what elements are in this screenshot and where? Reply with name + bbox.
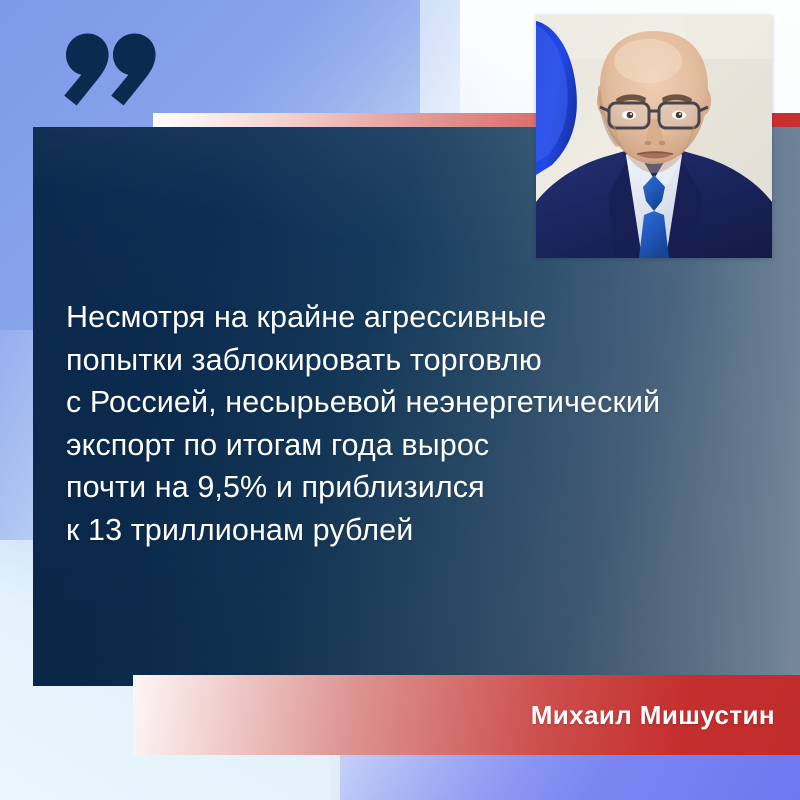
quote-card: Несмотря на крайне агрессивные попытки з… [0, 0, 800, 800]
attribution-banner [133, 675, 800, 755]
portrait-photo [536, 15, 772, 258]
quote-text: Несмотря на крайне агрессивные попытки з… [66, 296, 786, 551]
closing-quotation-mark-icon [60, 33, 156, 109]
